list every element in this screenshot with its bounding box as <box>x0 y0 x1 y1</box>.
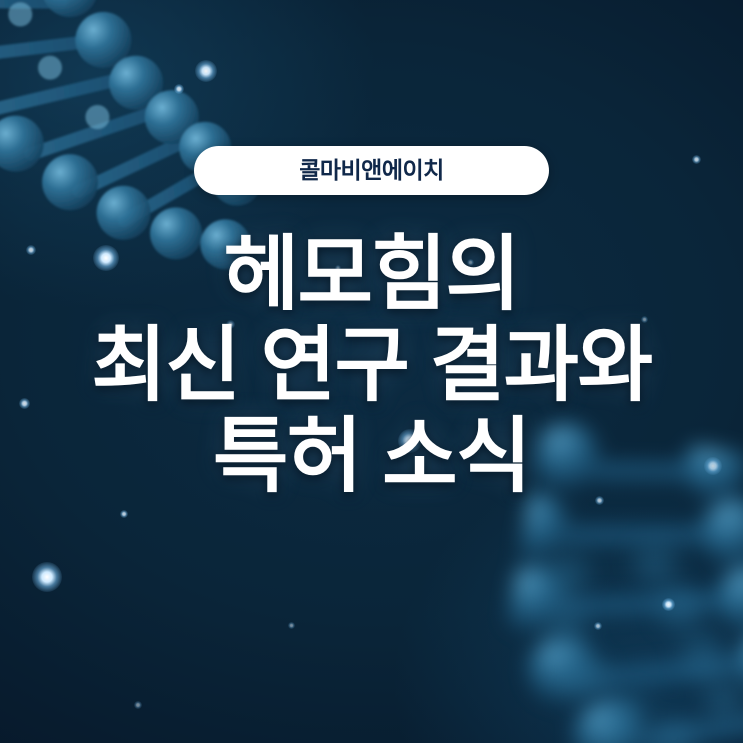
page-title: 헤모힘의 최신 연구 결과와 특허 소식 <box>91 229 651 502</box>
promo-card: 콜마비앤에이치 헤모힘의 최신 연구 결과와 특허 소식 <box>0 0 743 743</box>
headline-line-1: 헤모힘의 <box>91 229 651 320</box>
card-content: 콜마비앤에이치 헤모힘의 최신 연구 결과와 특허 소식 <box>0 0 743 743</box>
headline-line-3: 특허 소식 <box>91 411 651 502</box>
brand-badge-label: 콜마비앤에이치 <box>299 159 444 182</box>
brand-badge: 콜마비앤에이치 <box>194 146 549 195</box>
headline-line-2: 최신 연구 결과와 <box>91 320 651 411</box>
